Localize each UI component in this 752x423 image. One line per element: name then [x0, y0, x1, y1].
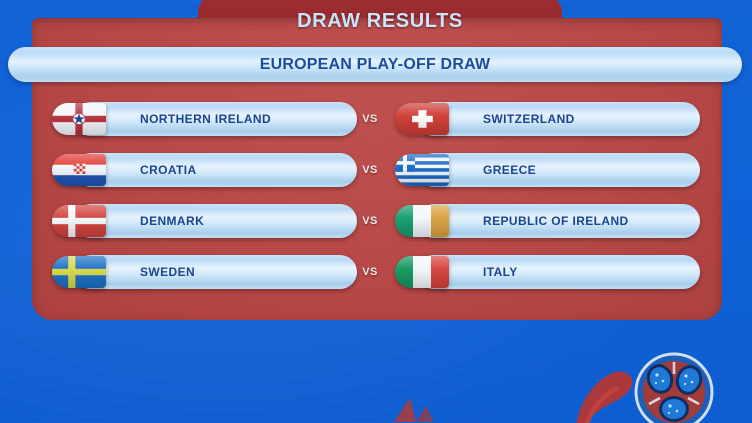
away-team: ITALY [395, 255, 700, 289]
vs-label: VS [357, 266, 383, 278]
team-name: SWITZERLAND [483, 102, 575, 136]
fifa-world-cup-2018-logo [574, 342, 750, 423]
vs-label: VS [357, 164, 383, 176]
subtitle-bar: EUROPEAN PLAY-OFF DRAW [8, 47, 742, 82]
team-pill [74, 204, 357, 238]
page-title: DRAW RESULTS [198, 4, 562, 38]
match-row: CROATIA VS GREECE [32, 144, 722, 195]
team-pill [74, 153, 357, 187]
away-team: GREECE [395, 153, 700, 187]
switzerland-flag [395, 103, 449, 135]
team-name: SWEDEN [140, 255, 195, 289]
republic-of-ireland-flag [395, 205, 449, 237]
team-pill [417, 255, 700, 289]
home-team: SWEDEN [52, 255, 357, 289]
denmark-flag [52, 205, 106, 237]
match-list: NORTHERN IRELAND VS SWITZERLAND [32, 93, 722, 297]
greece-flag [395, 154, 449, 186]
team-name: GREECE [483, 153, 536, 187]
vs-label: VS [357, 113, 383, 125]
northern-ireland-flag [52, 103, 106, 135]
italy-flag [395, 256, 449, 288]
home-team: DENMARK [52, 204, 357, 238]
home-team: CROATIA [52, 153, 357, 187]
away-team: REPUBLIC OF IRELAND [395, 204, 700, 238]
croatia-flag [52, 154, 106, 186]
team-name: CROATIA [140, 153, 197, 187]
team-name: REPUBLIC OF IRELAND [483, 204, 629, 238]
home-team: NORTHERN IRELAND [52, 102, 357, 136]
team-name: DENMARK [140, 204, 204, 238]
team-pill [74, 255, 357, 289]
away-team: SWITZERLAND [395, 102, 700, 136]
vs-label: VS [357, 215, 383, 227]
floor-graphic [390, 392, 460, 423]
sweden-flag [52, 256, 106, 288]
team-name: NORTHERN IRELAND [140, 102, 271, 136]
team-name: ITALY [483, 255, 518, 289]
subtitle-text: EUROPEAN PLAY-OFF DRAW [8, 47, 742, 82]
match-row: NORTHERN IRELAND VS SWITZERLAND [32, 93, 722, 144]
match-row: DENMARK VS REPUBLIC OF IRELAND [32, 195, 722, 246]
team-pill [417, 153, 700, 187]
match-row: SWEDEN VS ITALY [32, 246, 722, 297]
